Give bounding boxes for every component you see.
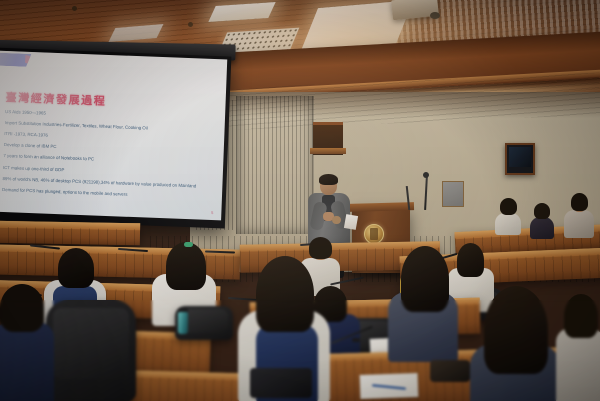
presenter-hand-right [332, 216, 341, 224]
student-left-edge-hair [0, 284, 44, 332]
wall-access-panel [442, 181, 464, 207]
projection-screen: 臺灣經濟發展過程 US Aids 1950—1965 Import Substi… [0, 51, 227, 221]
pencil-case [430, 360, 470, 382]
student-front-mid-hair [166, 242, 206, 290]
slide-bullet-list: US Aids 1950—1965 Import Substitution In… [2, 109, 210, 206]
student-back-right-3-body [564, 210, 594, 238]
student-back-right-3-hair [571, 193, 588, 211]
hair-clip-icon [184, 242, 193, 247]
chair [46, 300, 136, 401]
wall-wood-panel [236, 96, 314, 234]
wall-speaker-monitor [505, 143, 535, 175]
student-left-edge-body [0, 322, 54, 401]
slide-page-number: 5 [211, 210, 213, 215]
student-right-edge-body [556, 328, 600, 401]
student-row3-left-hair [309, 237, 332, 259]
presenter-hair [319, 174, 338, 185]
list-item [495, 200, 521, 234]
student-front-right-hair [256, 256, 314, 332]
desk-front-panel [0, 227, 140, 246]
list-item [388, 248, 458, 358]
screen-frame: 臺灣經濟發展過程 US Aids 1950—1965 Import Substi… [0, 47, 231, 228]
desk-microphone-base [352, 338, 360, 342]
backpack [250, 368, 312, 398]
wall-alcove-shelf [310, 148, 346, 154]
projection-screen-assembly: 臺灣經濟發展過程 US Aids 1950—1965 Import Substi… [0, 47, 231, 236]
water-bottle-cap [178, 308, 188, 312]
list-item [0, 292, 54, 401]
student-right-edge-hair [564, 294, 598, 338]
student-back-right-1-body [495, 213, 521, 235]
desk-row-far-left [0, 221, 140, 246]
presentation-logo-icon [0, 53, 31, 67]
water-bottle [178, 312, 188, 334]
list-item [564, 196, 594, 236]
student-right-fg2-hair [484, 286, 548, 374]
slide-title: 臺灣經濟發展過程 [5, 89, 106, 109]
student-back-right-2-body [530, 217, 554, 239]
list-item [470, 296, 560, 401]
podium-top-surface [348, 202, 414, 212]
student-back-right-2-hair [534, 203, 550, 219]
student-back-right-1-hair [500, 198, 517, 215]
podium-papers [344, 214, 358, 230]
student-right-fg-hair [401, 246, 449, 312]
podium-microphone-icon [423, 172, 429, 178]
list-item [530, 205, 554, 237]
student-row2-right-hair [457, 243, 484, 277]
lecture-hall-photo: 臺灣經濟發展過程 US Aids 1950—1965 Import Substi… [0, 0, 600, 401]
university-seal-icon [364, 224, 384, 244]
ceiling-spot-1 [72, 6, 77, 11]
student-front-left-hair [58, 248, 94, 288]
list-item [556, 300, 600, 401]
